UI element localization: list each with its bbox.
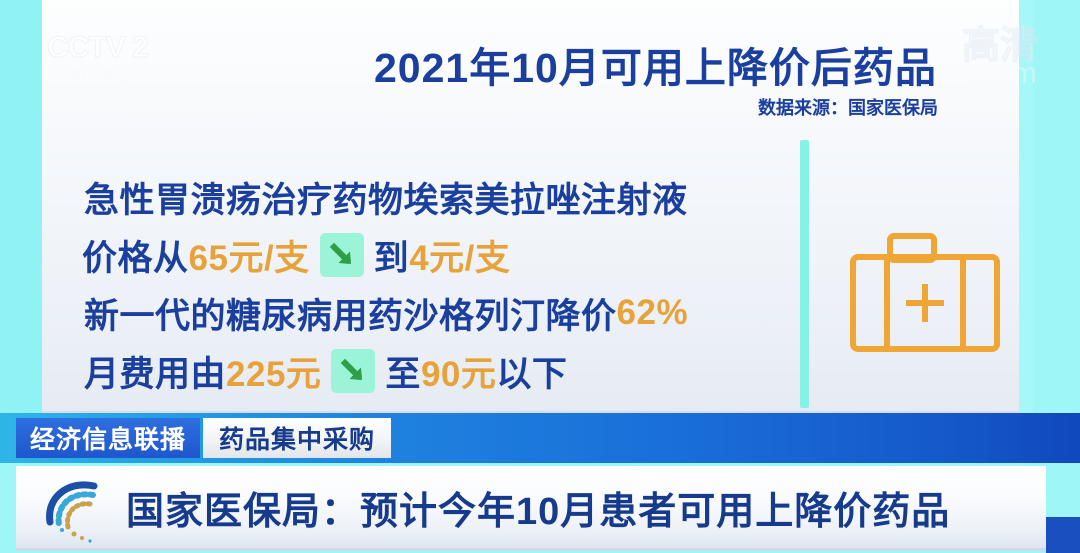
price-prefix-text: 价格从 — [82, 230, 189, 281]
topic-tag: 药品集中采购 — [203, 418, 391, 458]
price-middle-text: 到 — [374, 230, 410, 281]
monthly-cost-suffix-text: 以下 — [496, 346, 567, 397]
monthly-cost-prefix-text: 月费用由 — [84, 346, 226, 397]
newsbar-right-cyan-edge — [1046, 463, 1080, 553]
discount-percent-value: 62% — [617, 293, 689, 333]
program-tag: 经济信息联播 — [16, 418, 200, 458]
vertical-divider — [800, 140, 809, 408]
price-from-value: 65元/支 — [189, 230, 310, 281]
right-cyan-edge — [1033, 0, 1080, 414]
monthly-cost-middle-text: 至 — [385, 346, 421, 397]
broadcast-screen: CCTV 2 财经 高清 .com 2021年10月可用上降价后药品 数据来源：… — [0, 0, 1080, 553]
arrow-down-right-icon — [320, 233, 364, 277]
arrow-down-right-icon — [331, 349, 375, 393]
cctv-finance-logo — [38, 474, 114, 546]
diabetes-drug-text: 新一代的糖尿病用药沙格列汀降价 — [84, 288, 617, 339]
drug-name-text: 急性胃溃疡治疗药物埃索美拉唑注射液 — [84, 172, 688, 223]
body-line-3: 新一代的糖尿病用药沙格列汀降价 62% — [84, 284, 784, 342]
monthly-cost-to-value: 90元 — [421, 346, 496, 397]
monthly-cost-from-value: 225元 — [226, 346, 321, 397]
newsbar-left-cyan-edge — [0, 463, 16, 553]
body-line-2: 价格从 65元/支 到 4元/支 — [82, 226, 784, 284]
price-to-value: 4元/支 — [409, 230, 510, 281]
medical-kit-icon — [845, 226, 1005, 366]
page-title: 2021年10月可用上降价后药品 — [374, 34, 937, 94]
body-text-block: 急性胃溃疡治疗药物埃索美拉唑注射液 价格从 65元/支 到 4元/支 新一代的糖… — [84, 168, 784, 400]
body-line-4: 月费用由 225元 至 90元 以下 — [84, 342, 784, 400]
data-source-label: 数据来源：国家医保局 — [758, 94, 938, 120]
body-line-1: 急性胃溃疡治疗药物埃索美拉唑注射液 — [84, 168, 784, 226]
panel-right-cyan-nub — [1019, 0, 1033, 414]
news-headline: 国家医保局：预计今年10月患者可用上降价药品 — [126, 476, 950, 538]
